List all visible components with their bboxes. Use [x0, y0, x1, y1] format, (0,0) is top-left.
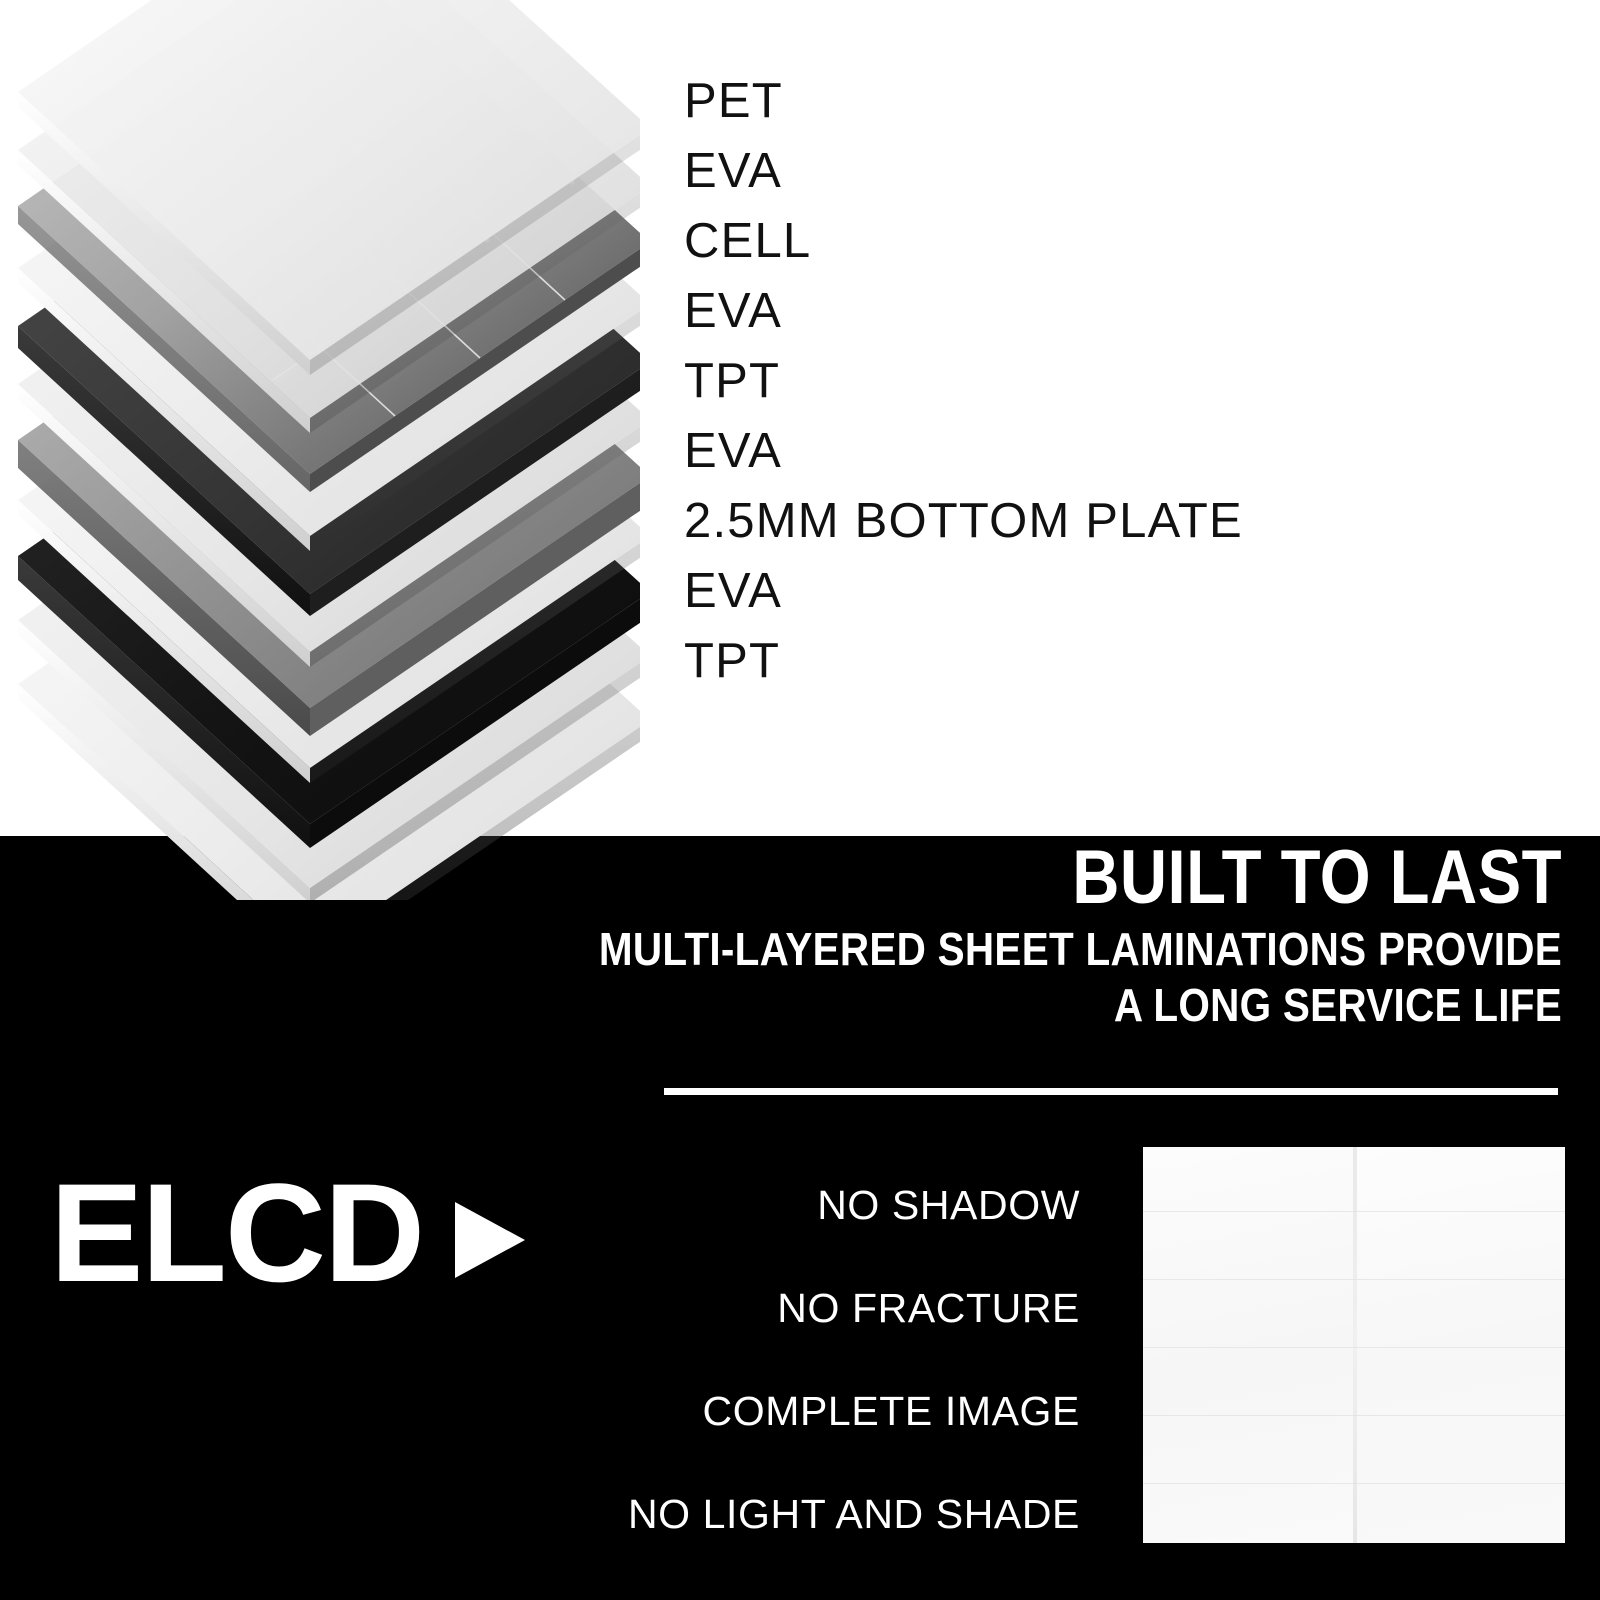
layer-label-pet: PET	[684, 66, 1444, 136]
horizontal-rule	[664, 1088, 1558, 1095]
layer-label-eva-4: EVA	[684, 556, 1444, 626]
layer-label-bottom-plate: 2.5MM BOTTOM PLATE	[684, 486, 1444, 556]
feature-list: NO SHADOW NO FRACTURE COMPLETE IMAGE NO …	[560, 1180, 1080, 1539]
feature-item-no-light-and-shade: NO LIGHT AND SHADE	[560, 1489, 1080, 1539]
feature-item-no-shadow: NO SHADOW	[560, 1180, 1080, 1230]
poster-root: PET EVA CELL EVA TPT EVA 2.5MM BOTTOM PL…	[0, 0, 1600, 1600]
el-busbar	[1143, 1415, 1565, 1416]
layer-label-tpt-2: TPT	[684, 626, 1444, 696]
brand-logo: ELCD	[50, 1163, 525, 1303]
banner-text-block: BUILT TO LAST MULTI-LAYERED SHEET LAMINA…	[350, 838, 1562, 1032]
layer-label-eva-1: EVA	[684, 136, 1444, 206]
layer-label-list: PET EVA CELL EVA TPT EVA 2.5MM BOTTOM PL…	[684, 66, 1444, 696]
banner-subline-2: A LONG SERVICE LIFE	[495, 978, 1562, 1032]
banner-headline: BUILT TO LAST	[520, 838, 1562, 918]
feature-item-complete-image: COMPLETE IMAGE	[560, 1386, 1080, 1436]
el-test-image	[1143, 1147, 1565, 1543]
layer-stack-illustration	[0, 0, 640, 900]
el-busbar	[1143, 1279, 1565, 1280]
feature-item-no-fracture: NO FRACTURE	[560, 1283, 1080, 1333]
brand-name: ELCD	[50, 1163, 423, 1303]
layer-label-cell: CELL	[684, 206, 1444, 276]
el-busbar	[1143, 1483, 1565, 1484]
layer-label-eva-2: EVA	[684, 276, 1444, 346]
layer-label-eva-3: EVA	[684, 416, 1444, 486]
el-busbar	[1143, 1211, 1565, 1212]
banner-subline-1: MULTI-LAYERED SHEET LAMINATIONS PROVIDE	[495, 922, 1562, 976]
el-busbar	[1143, 1347, 1565, 1348]
play-triangle-icon	[455, 1202, 525, 1278]
layer-label-tpt-1: TPT	[684, 346, 1444, 416]
